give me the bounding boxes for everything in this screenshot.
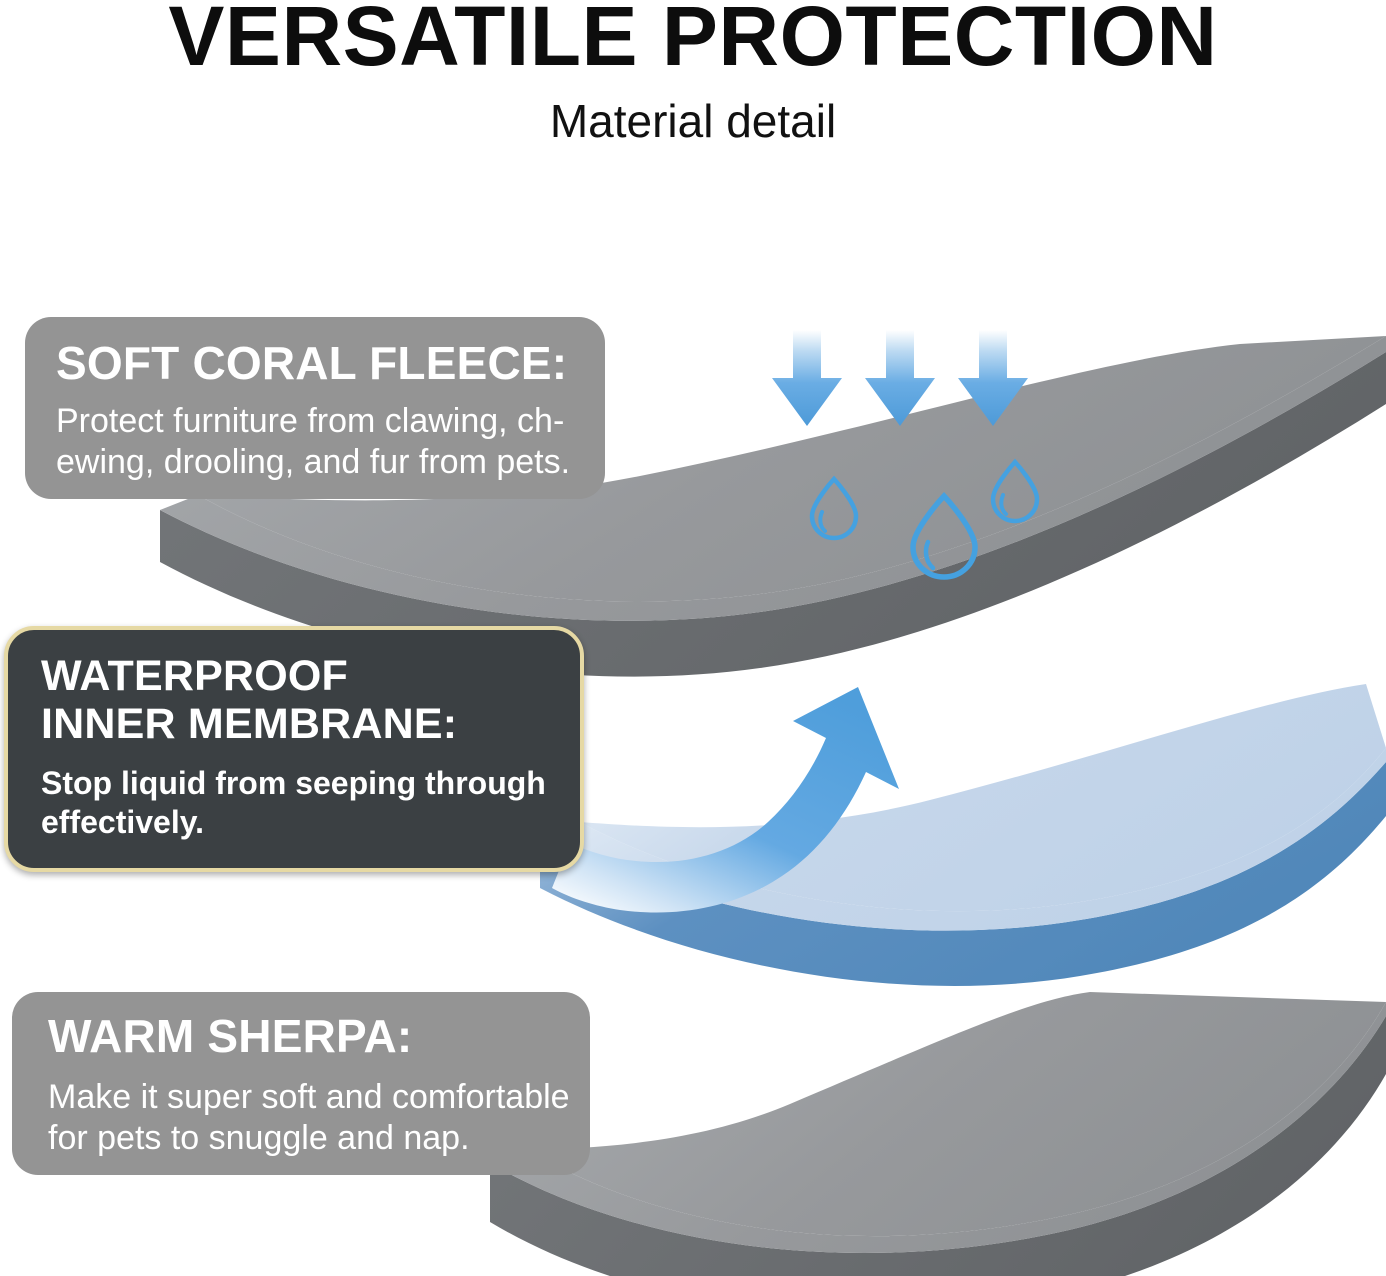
callout-body-line-1: Protect furniture from clawing, ch- [56, 401, 579, 442]
water-droplet-icon [812, 479, 856, 538]
fabric-sheet-sherpa-edge [490, 1016, 1386, 1276]
down-arrow-icon [865, 330, 935, 426]
water-droplet-icon [913, 496, 975, 577]
callout-body-line-2: effectively. [41, 803, 558, 841]
down-arrows-group [772, 330, 1028, 426]
callout-title: SOFT CORAL FLEECE: [56, 339, 579, 388]
callout-title-line-1: WATERPROOF [41, 652, 558, 700]
callout-warm-sherpa: WARM SHERPA: Make it super soft and comf… [12, 992, 590, 1175]
fabric-sheet-sherpa-face [490, 1002, 1386, 1253]
callout-soft-coral-fleece: SOFT CORAL FLEECE: Protect furniture fro… [25, 317, 605, 499]
water-droplet-icon [993, 462, 1037, 521]
down-arrow-icon [772, 330, 842, 426]
callout-title: WARM SHERPA: [48, 1012, 566, 1061]
water-droplets-group [812, 462, 1037, 577]
callout-body: Protect furniture from clawing, ch- ewin… [56, 401, 579, 484]
callout-body-line-1: Make it super soft and comfortable [48, 1077, 566, 1118]
callout-body: Stop liquid from seeping through effecti… [41, 764, 558, 841]
callout-body-line-2: for pets to snuggle and nap. [48, 1118, 566, 1159]
down-arrow-icon [958, 330, 1028, 426]
callout-title: WATERPROOF INNER MEMBRANE: [41, 652, 558, 748]
callout-body-line-1: Stop liquid from seeping through [41, 764, 558, 802]
header: VERSATILE PROTECTION Material detail [0, 0, 1386, 175]
fabric-sheet-membrane-body [580, 684, 1386, 911]
callout-waterproof-inner-membrane: WATERPROOF INNER MEMBRANE: Stop liquid f… [4, 626, 584, 872]
page-title: VERSATILE PROTECTION [0, 0, 1386, 78]
fabric-sheet-membrane-face [540, 748, 1386, 931]
fabric-sheet-membrane-edge [540, 762, 1386, 986]
callout-body: Make it super soft and comfortable for p… [48, 1077, 566, 1160]
page-subtitle: Material detail [0, 98, 1386, 144]
fabric-sheet-sherpa [490, 992, 1386, 1276]
fabric-sheet-membrane [540, 684, 1386, 986]
callout-title-line-2: INNER MEMBRANE: [41, 700, 558, 748]
up-arrow-icon [552, 687, 906, 953]
callout-body-line-2: ewing, drooling, and fur from pets. [56, 442, 579, 483]
fabric-sheet-sherpa-body [528, 992, 1386, 1236]
